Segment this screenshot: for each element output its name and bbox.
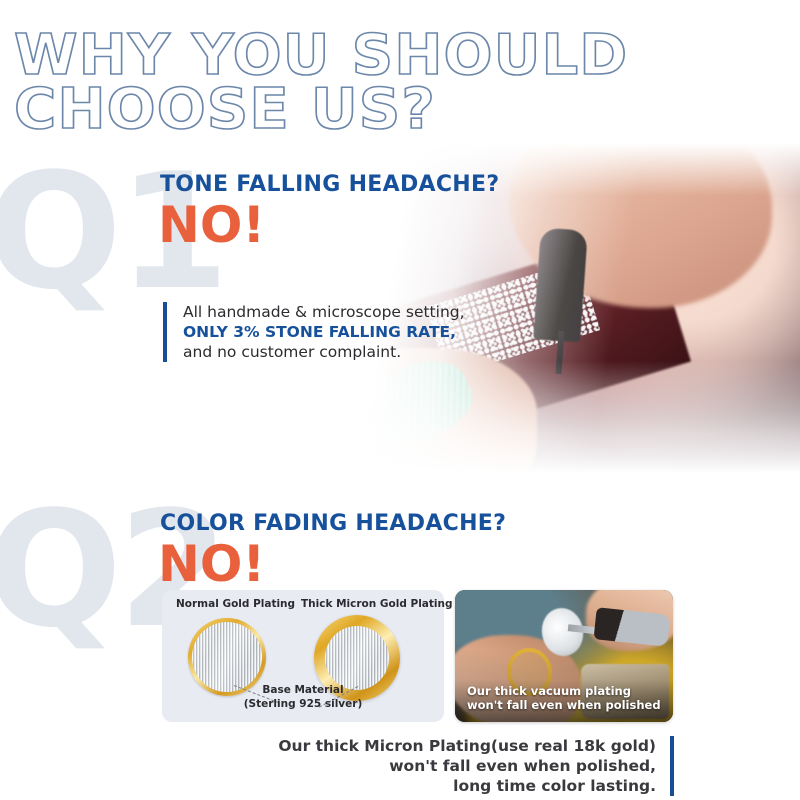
question-heading-q2: COLOR FADING HEADACHE?	[160, 511, 506, 536]
question-body-q1: All handmade & microscope setting, ONLY …	[163, 302, 465, 362]
base-material-core-normal	[192, 622, 262, 692]
polishing-photo-caption: Our thick vacuum plating won't fall even…	[467, 684, 663, 712]
answer-no-q1: NO!	[158, 200, 265, 250]
page-title: WHY YOU SHOULD CHOOSE US?	[14, 32, 774, 134]
base-material-label-line-2: (Sterling 925 silver)	[162, 697, 444, 711]
question-body-q1-line-2: ONLY 3% STONE FALLING RATE,	[183, 322, 465, 342]
closing-statement-line-3: long time color lasting.	[278, 776, 656, 796]
polishing-photo-card: Our thick vacuum plating won't fall even…	[455, 590, 673, 722]
closing-statement-line-1: Our thick Micron Plating(use real 18k go…	[278, 736, 656, 756]
polishing-photo-caption-line-2: won't fall even when polished	[467, 698, 663, 712]
question-body-q1-line-3: and no customer complaint.	[183, 342, 465, 362]
answer-no-q2: NO!	[158, 539, 265, 589]
polishing-photo-caption-line-1: Our thick vacuum plating	[467, 684, 663, 698]
base-material-label-line-1: Base Material	[162, 683, 444, 697]
page-title-line-1: WHY YOU SHOULD	[14, 32, 797, 80]
photo-fade-bottom	[330, 361, 800, 473]
base-material-core-thick	[325, 626, 389, 690]
closing-statement-line-2: won't fall even when polished,	[278, 756, 656, 776]
infographic-canvas: WHY YOU SHOULD CHOOSE US? Q1 TONE FALLIN…	[0, 0, 800, 800]
base-material-label: Base Material (Sterling 925 silver)	[162, 683, 444, 711]
closing-statement: Our thick Micron Plating(use real 18k go…	[278, 736, 674, 796]
comparison-label-thick: Thick Micron Gold Plating	[301, 598, 453, 610]
plating-comparison-panel: Normal Gold Plating Thick Micron Gold Pl…	[162, 590, 444, 722]
comparison-label-normal: Normal Gold Plating	[176, 598, 295, 610]
question-heading-q1: TONE FALLING HEADACHE?	[160, 172, 499, 197]
question-body-q1-line-1: All handmade & microscope setting,	[183, 302, 465, 322]
page-title-line-2: CHOOSE US?	[14, 86, 797, 134]
